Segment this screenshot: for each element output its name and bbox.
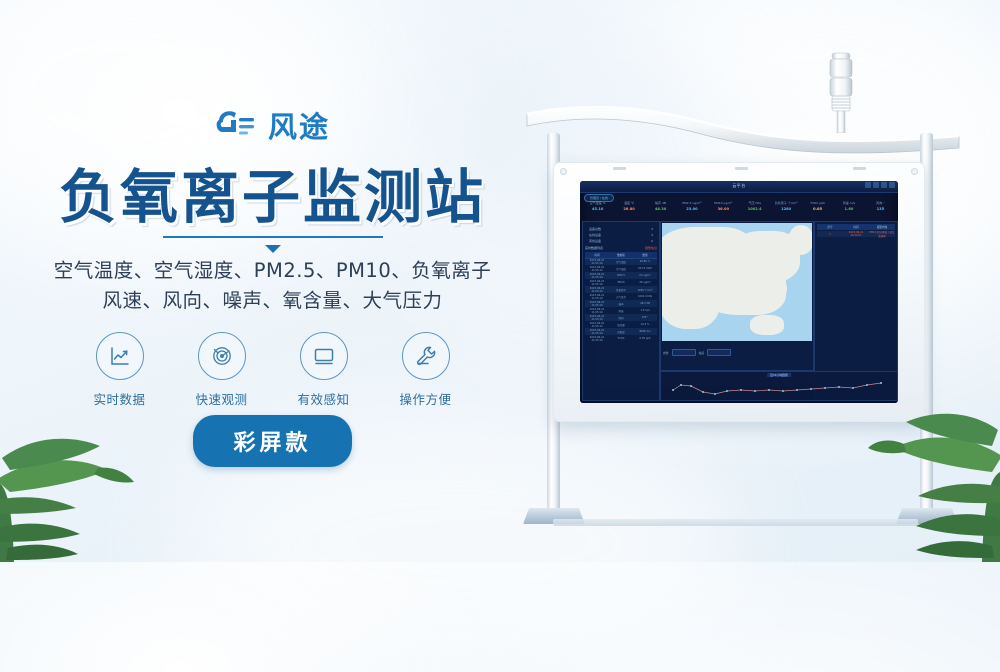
table-cell: 26.80 ℃ <box>633 260 657 263</box>
display-cabinet: 云平台 管理员 / 在线 空气湿度 %45.10温度 ℃26.80噪声 dB48… <box>553 162 925 422</box>
alert-cell: PM10 超过阈值 / 请注意通风 <box>869 230 895 238</box>
metric-card: 负氧离子 个/cm³1280 <box>770 201 801 218</box>
monitor-display-icon <box>300 332 348 380</box>
device-stat-row: 离线设备0 <box>589 238 653 244</box>
table-cell: 风速 <box>609 309 633 313</box>
stat-label: 离线设备 <box>589 238 601 244</box>
feature-icon-row: 实时数据 快速观测 有效感知 <box>0 332 545 408</box>
station-select[interactable] <box>707 349 731 356</box>
page-title: 负氧离子监测站 <box>0 150 545 234</box>
header-icon[interactable] <box>881 182 887 188</box>
metric-value: 0.05 <box>802 206 833 212</box>
map-panel: 省份 站点 <box>660 221 814 371</box>
table-row[interactable]: 2023-06-21 11:05:10PM2.523 ug/m³ <box>585 272 657 279</box>
dashboard-title: 云平台 <box>580 183 898 189</box>
feature-label: 有效感知 <box>286 389 362 408</box>
station-label: 站点 <box>699 351 705 355</box>
metric-card: 噪声 dB48.30 <box>645 201 676 218</box>
header-icon[interactable] <box>865 182 871 188</box>
metric-card: TVOC ppb0.05 <box>802 201 833 218</box>
metric-value: 135 <box>865 206 896 212</box>
hero-text-column: 风途 负氧离子监测站 空气温度、空气湿度、PM2.5、PM10、负氧离子 风速、… <box>0 0 545 562</box>
table-cell: 135 ° <box>633 316 657 319</box>
alert-column-header: 报警内容 <box>869 225 895 229</box>
table-cell: 23 ug/m³ <box>633 274 657 277</box>
table-cell: PM10 <box>609 281 633 284</box>
table-cell: 空气温度 <box>609 260 633 264</box>
table-row[interactable]: 2023-06-21 11:05:10PM1036 ug/m³ <box>585 279 657 286</box>
device-stats: 设备总数3在线设备3离线设备0 <box>589 226 653 244</box>
led-display-screen[interactable]: 云平台 管理员 / 在线 空气湿度 %45.10温度 ℃26.80噪声 dB48… <box>580 181 898 403</box>
metric-card: PM10 ug/m³36.00 <box>708 201 739 218</box>
table-column-header: 时间 <box>585 253 609 257</box>
left-data-panel: 设备总数3在线设备3离线设备0 实时数据列表 报警信息 时间数据项数值 2023… <box>582 221 660 401</box>
feature-item-easy-operation[interactable]: 操作方便 <box>388 332 464 408</box>
table-cell: 2023-06-21 11:05:10 <box>585 322 609 328</box>
feature-label: 操作方便 <box>388 389 464 408</box>
table-cell: 2023-06-21 11:05:10 <box>585 273 609 279</box>
table-body: 2023-06-21 11:05:10空气温度26.80 ℃2023-06-21… <box>585 258 657 342</box>
metric-value: 1002.4 <box>739 206 770 212</box>
alert-cell: 2023-06-21 10:52:07 <box>843 231 869 237</box>
table-title-row: 实时数据列表 报警信息 <box>585 245 657 251</box>
subtitle-line-1: 空气温度、空气湿度、PM2.5、PM10、负氧离子 <box>0 256 545 286</box>
wrench-icon <box>402 332 450 380</box>
feature-item-realtime-data[interactable]: 实时数据 <box>82 332 158 408</box>
divider-triangle-icon <box>265 245 281 253</box>
brand-logo: 风途 <box>0 104 545 146</box>
table-column-header: 数值 <box>633 253 657 257</box>
alert-column-header: 时间 <box>843 225 869 229</box>
table-cell: 20.9 % <box>633 323 657 326</box>
table-row[interactable]: 2023-06-21 11:05:10空气温度26.80 ℃ <box>585 258 657 265</box>
table-cell: 45.10 %RH <box>633 267 657 270</box>
divider-triangle-wrap <box>0 238 545 253</box>
table-cell: 2023-06-21 11:05:10 <box>585 329 609 335</box>
subtitle-line-2: 风速、风向、噪声、氧含量、大气压力 <box>0 286 545 316</box>
province-select[interactable] <box>672 349 696 356</box>
table-row[interactable]: 2023-06-21 11:05:10光照度8600 lux <box>585 328 657 335</box>
landmass-shape <box>788 225 812 255</box>
color-screen-model-button[interactable]: 彩屏款 <box>193 415 351 467</box>
metric-card: 空气湿度 %45.10 <box>582 201 613 218</box>
table-cell: 1002.4 hPa <box>633 295 657 298</box>
cloud-platform-dashboard: 云平台 管理员 / 在线 空气湿度 %45.10温度 ℃26.80噪声 dB48… <box>580 181 898 403</box>
screw-icon <box>911 168 918 175</box>
trend-chart-panel: 近24小时趋势 <box>660 371 898 401</box>
table-cell: 噪声 <box>609 302 633 306</box>
table-cell: 2023-06-21 11:05:10 <box>585 308 609 314</box>
feature-item-effective-sensing[interactable]: 有效感知 <box>286 332 362 408</box>
landmass-shape <box>750 315 784 335</box>
table-cell: 2023-06-21 11:05:10 <box>585 287 609 293</box>
ultrasonic-weather-sensor-icon <box>824 51 858 133</box>
china-map[interactable] <box>662 223 812 341</box>
table-cell: 空气湿度 <box>609 267 633 271</box>
metric-value: 23.00 <box>676 206 707 212</box>
metric-value: 26.80 <box>613 206 644 212</box>
table-cell: 2023-06-21 11:05:10 <box>585 266 609 272</box>
feature-label: 快速观测 <box>184 389 260 408</box>
table-cell: 2023-06-21 11:05:10 <box>585 280 609 286</box>
table-row[interactable]: 2023-06-21 11:05:10噪声48.3 dB <box>585 300 657 307</box>
metric-card: 温度 ℃26.80 <box>613 201 644 218</box>
line-chart-icon <box>96 332 144 380</box>
canopy-roof <box>523 98 963 156</box>
mount-tab <box>853 167 866 170</box>
feature-label: 实时数据 <box>82 389 158 408</box>
alert-cell: 1 <box>817 233 843 236</box>
table-cell: 48.3 dB <box>633 302 657 305</box>
table-row[interactable]: 2023-06-21 11:05:10空气湿度45.10 %RH <box>585 265 657 272</box>
table-cell: 2023-06-21 11:05:10 <box>585 336 609 342</box>
brand-name: 风途 <box>268 104 330 146</box>
alert-table-row: 12023-06-21 10:52:07PM10 超过阈值 / 请注意通风 <box>817 231 895 237</box>
table-cell: PM2.5 <box>609 274 633 277</box>
table-row[interactable]: 2023-06-21 11:05:10大气压力1002.4 hPa <box>585 293 657 300</box>
metric-value: 36.00 <box>708 206 739 212</box>
feature-item-fast-observation[interactable]: 快速观测 <box>184 332 260 408</box>
metric-card: 气压 hPa1002.4 <box>739 201 770 218</box>
radar-observation-icon <box>198 332 246 380</box>
table-row[interactable]: 2023-06-21 11:05:10TVOC0.05 ppb <box>585 335 657 342</box>
dashboard-header-icons <box>865 182 895 188</box>
table-cell: 光照度 <box>609 330 633 334</box>
alarm-label[interactable]: 报警信息 <box>645 246 657 250</box>
table-cell: 0.05 ppb <box>633 337 657 340</box>
metric-value: 48.30 <box>645 206 676 212</box>
screw-icon <box>560 168 567 175</box>
metric-card: PM2.5 ug/m³23.00 <box>676 201 707 218</box>
table-row[interactable]: 2023-06-21 11:05:10风向135 ° <box>585 314 657 321</box>
monitoring-station-device: 云平台 管理员 / 在线 空气湿度 %45.10温度 ℃26.80噪声 dB48… <box>505 45 975 535</box>
header-icon[interactable] <box>873 182 879 188</box>
cta-wrap: 彩屏款 <box>0 415 545 467</box>
table-row[interactable]: 2023-06-21 11:05:10风速1.6 m/s <box>585 307 657 314</box>
table-cell: TVOC <box>609 337 633 340</box>
table-column-header: 数据项 <box>609 253 633 257</box>
table-title: 实时数据列表 <box>585 246 603 250</box>
table-row[interactable]: 2023-06-21 11:05:10氧含量20.9 % <box>585 321 657 328</box>
metric-card: 风向 °135 <box>865 201 896 218</box>
metric-value: 1280 <box>770 206 801 212</box>
stat-value: 0 <box>651 238 653 244</box>
metric-value: 1.60 <box>833 206 864 212</box>
table-cell: 大气压力 <box>609 295 633 299</box>
alert-column-header: 序号 <box>817 225 843 229</box>
metric-value: 45.10 <box>582 206 613 212</box>
feature-subtitle: 空气温度、空气湿度、PM2.5、PM10、负氧离子 风速、风向、噪声、氧含量、大… <box>0 256 545 316</box>
metric-card: 风速 m/s1.60 <box>833 201 864 218</box>
metric-strip: 空气湿度 %45.10温度 ℃26.80噪声 dB48.30PM2.5 ug/m… <box>582 201 896 218</box>
table-cell: 2023-06-21 11:05:10 <box>585 294 609 300</box>
map-controls: 省份 站点 <box>663 349 811 356</box>
mount-tab <box>613 167 626 170</box>
table-cell: 风向 <box>609 316 633 320</box>
table-cell: 2023-06-21 11:05:10 <box>585 259 609 265</box>
ground-bar <box>553 519 918 526</box>
table-cell: 1.6 m/s <box>633 309 657 312</box>
landmass-shape <box>662 267 720 329</box>
table-cell: 36 ug/m³ <box>633 281 657 284</box>
province-label: 省份 <box>663 351 669 355</box>
header-icon[interactable] <box>889 182 895 188</box>
table-cell: 负氧离子 <box>609 288 633 292</box>
table-cell: 氧含量 <box>609 323 633 327</box>
table-cell: 1280 个/cm³ <box>633 288 657 292</box>
table-cell: 8600 lux <box>633 330 657 333</box>
fengtu-cloud-logo-icon <box>215 108 259 142</box>
table-row[interactable]: 2023-06-21 11:05:10负氧离子1280 个/cm³ <box>585 286 657 293</box>
mount-tab <box>735 167 748 170</box>
table-cell: 2023-06-21 11:05:10 <box>585 315 609 321</box>
table-cell: 2023-06-21 11:05:10 <box>585 301 609 307</box>
